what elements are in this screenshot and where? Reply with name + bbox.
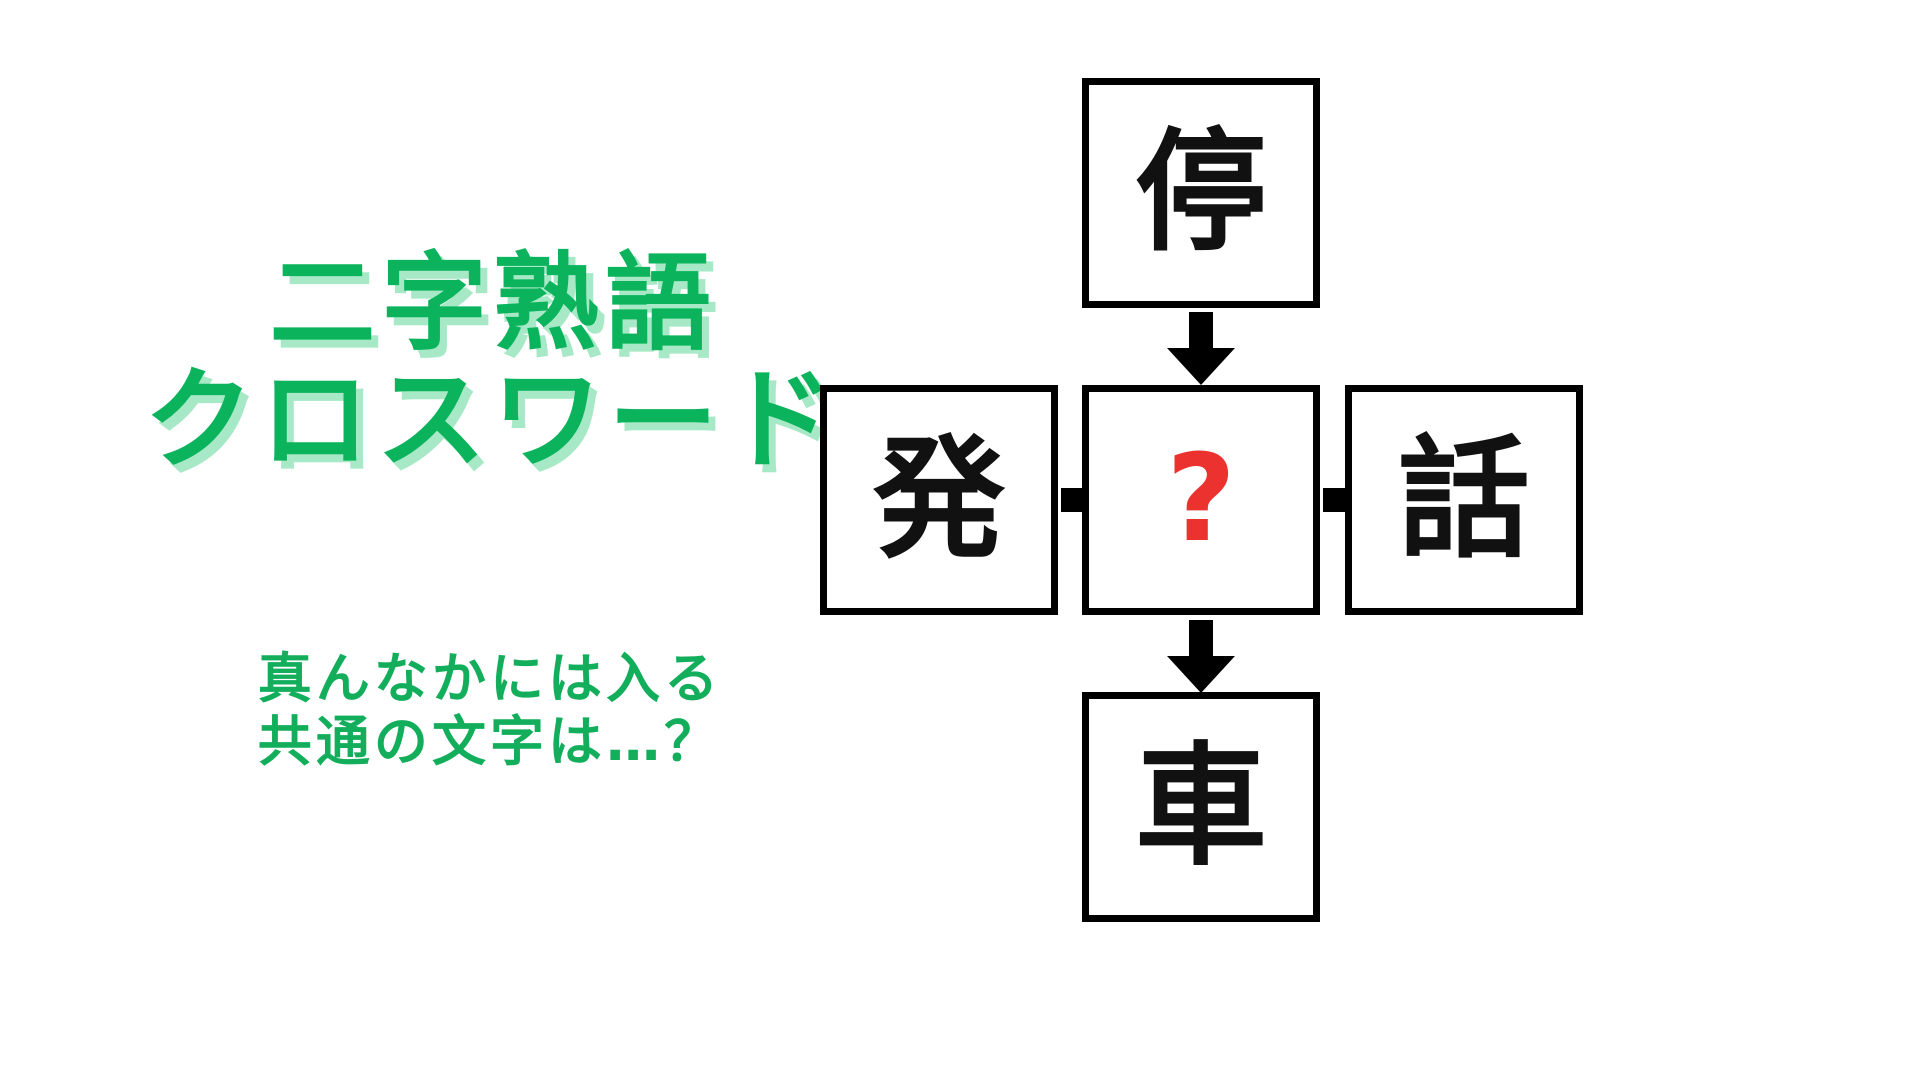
puzzle-cell-left[interactable]: 発 <box>820 385 1058 615</box>
question-mark-icon: ? <box>1166 440 1236 560</box>
kanji-glyph-bottom: 車 <box>1135 741 1267 873</box>
page-subtitle: 真んなかには入る 共通の文字は…？ <box>0 648 980 773</box>
kanji-glyph-left: 発 <box>873 434 1005 566</box>
subtitle-line-2: 共通の文字は…？ <box>0 711 980 774</box>
arrow-down-icon-bottom <box>1165 620 1237 694</box>
kanji-glyph-right: 話 <box>1398 434 1530 566</box>
kanji-crossword-diagram: 停 発 ? 話 <box>960 40 1920 1050</box>
subtitle-line-1: 真んなかには入る <box>0 648 980 711</box>
title-line-1: 二字熟語 <box>0 248 980 360</box>
kanji-glyph-top: 停 <box>1135 127 1267 259</box>
puzzle-cell-bottom[interactable]: 車 <box>1082 692 1320 922</box>
arrow-down-icon-top <box>1165 312 1237 386</box>
puzzle-cell-center-unknown[interactable]: ? <box>1082 385 1320 615</box>
poster-canvas: 二字熟語 クロスワード 真んなかには入る 共通の文字は…？ 停 発 <box>0 0 1920 1080</box>
puzzle-cell-top[interactable]: 停 <box>1082 78 1320 308</box>
puzzle-cell-right[interactable]: 話 <box>1345 385 1583 615</box>
